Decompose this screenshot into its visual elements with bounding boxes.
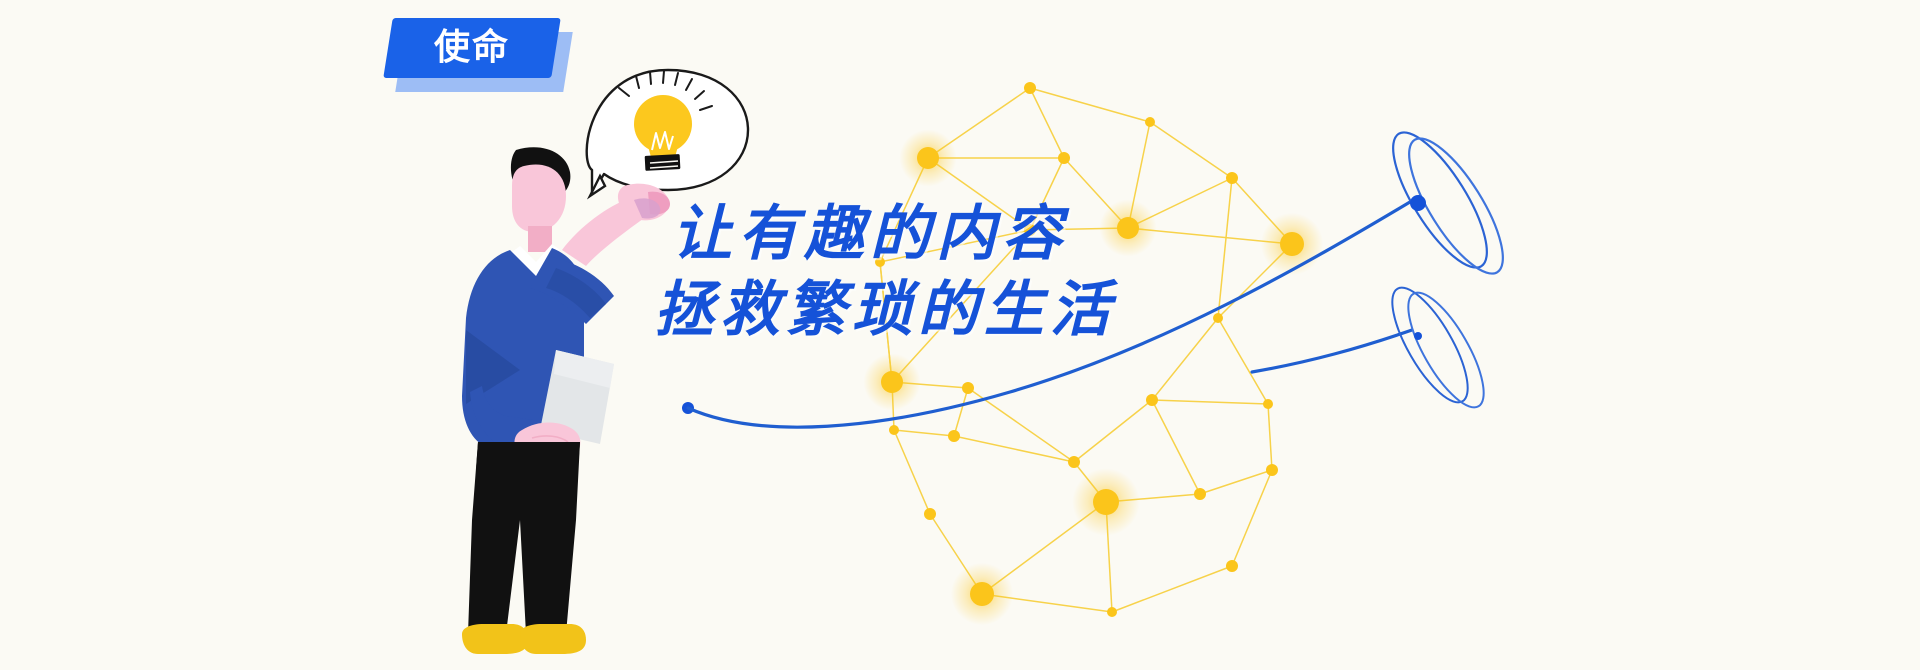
banner-canvas: 使命 让有趣的内容 拯救繁琐的生活 <box>0 0 1920 670</box>
headline-line-2: 拯救繁琐的生活 <box>654 272 1312 348</box>
mission-badge-plate[interactable]: 使命 <box>383 18 561 78</box>
mission-badge-label: 使命 <box>434 30 510 66</box>
headline-block: 让有趣的内容 拯救繁琐的生活 <box>672 196 1312 348</box>
headline-line-1: 让有趣的内容 <box>672 196 1312 272</box>
mission-badge[interactable]: 使命 <box>388 18 578 98</box>
person-figure <box>462 147 670 654</box>
